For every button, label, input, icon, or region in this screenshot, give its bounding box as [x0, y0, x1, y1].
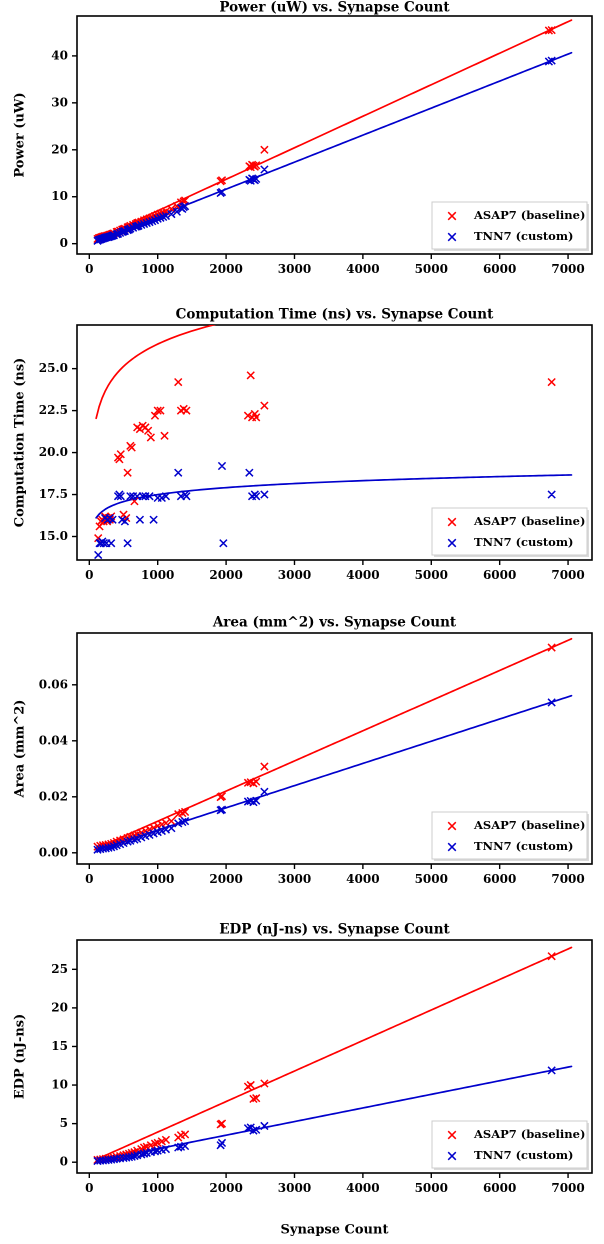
x-tick-label: 1000: [141, 872, 174, 886]
y-tick-label: 15.0: [39, 529, 68, 543]
y-axis-label: EDP (nJ-ns): [13, 1014, 28, 1100]
chart-panel-area: Area (mm^2) vs. Synapse Count0.000.020.0…: [13, 615, 593, 886]
legend: ASAP7 (baseline)TNN7 (custom): [432, 508, 589, 557]
x-tick-label: 4000: [346, 568, 379, 582]
x-tick-label: 6000: [483, 568, 516, 582]
y-tick-label: 10: [51, 189, 68, 203]
y-axis-label: Computation Time (ns): [13, 358, 28, 528]
y-tick-label: 0.02: [39, 789, 68, 803]
x-tick-label: 3000: [278, 568, 311, 582]
y-tick-label: 15: [51, 1039, 68, 1053]
x-tick-label: 0: [85, 872, 93, 886]
legend: ASAP7 (baseline)TNN7 (custom): [432, 812, 589, 861]
x-tick-label: 2000: [209, 262, 242, 276]
x-tick-label: 5000: [415, 1181, 448, 1195]
y-tick-label: 0.04: [39, 733, 68, 747]
y-tick-label: 0: [60, 1155, 68, 1169]
y-axis-label: Power (uW): [13, 92, 28, 177]
chart-title: Computation Time (ns) vs. Synapse Count: [176, 307, 495, 323]
y-tick-label: 20.0: [39, 445, 68, 459]
y-tick-label: 0: [60, 236, 68, 250]
x-tick-label: 7000: [551, 1181, 584, 1195]
y-tick-label: 0.00: [39, 845, 68, 859]
y-tick-label: 5: [60, 1116, 68, 1130]
x-tick-label: 6000: [483, 262, 516, 276]
x-tick-label: 7000: [551, 568, 584, 582]
legend-label: TNN7 (custom): [474, 839, 573, 853]
x-tick-label: 1000: [141, 1181, 174, 1195]
y-tick-label: 10: [51, 1078, 68, 1092]
x-tick-label: 4000: [346, 1181, 379, 1195]
y-tick-label: 0.06: [39, 677, 68, 691]
legend-label: ASAP7 (baseline): [473, 818, 585, 832]
x-tick-label: 5000: [415, 872, 448, 886]
x-tick-label: 6000: [483, 1181, 516, 1195]
legend-label: ASAP7 (baseline): [473, 1127, 585, 1141]
x-tick-label: 3000: [278, 872, 311, 886]
x-tick-label: 4000: [346, 872, 379, 886]
x-tick-label: 0: [85, 1181, 93, 1195]
chart-title: EDP (nJ-ns) vs. Synapse Count: [219, 922, 450, 938]
y-tick-label: 17.5: [39, 487, 68, 501]
trend-line: [96, 281, 571, 418]
chart-panel-power: Power (uW) vs. Synapse Count010203040010…: [13, 0, 593, 276]
x-tick-label: 3000: [278, 1181, 311, 1195]
legend-label: ASAP7 (baseline): [473, 514, 585, 528]
x-tick-label: 2000: [209, 872, 242, 886]
x-tick-label: 2000: [209, 1181, 242, 1195]
legend: ASAP7 (baseline)TNN7 (custom): [432, 202, 589, 251]
y-tick-label: 20: [51, 1000, 68, 1014]
legend-label: ASAP7 (baseline): [473, 208, 585, 222]
y-tick-label: 25: [51, 962, 68, 976]
x-tick-label: 7000: [551, 872, 584, 886]
chart-panel-edp: EDP (nJ-ns) vs. Synapse Count05101520250…: [13, 922, 593, 1238]
chart-title: Power (uW) vs. Synapse Count: [219, 0, 450, 16]
x-tick-label: 3000: [278, 262, 311, 276]
legend-label: TNN7 (custom): [474, 1148, 573, 1162]
chart-panel-computation_time: Computation Time (ns) vs. Synapse Count1…: [13, 281, 593, 582]
y-tick-label: 30: [51, 95, 68, 109]
x-tick-label: 4000: [346, 262, 379, 276]
y-tick-label: 22.5: [39, 403, 68, 417]
x-tick-label: 0: [85, 262, 93, 276]
chart-title: Area (mm^2) vs. Synapse Count: [212, 615, 457, 631]
x-tick-label: 0: [85, 568, 93, 582]
multi-panel-figure: Power (uW) vs. Synapse Count010203040010…: [0, 0, 604, 1244]
legend: ASAP7 (baseline)TNN7 (custom): [432, 1121, 589, 1170]
x-tick-label: 1000: [141, 568, 174, 582]
y-tick-label: 40: [51, 48, 68, 62]
x-tick-label: 5000: [415, 568, 448, 582]
x-axis-label: Synapse Count: [281, 1223, 389, 1238]
legend-label: TNN7 (custom): [474, 535, 573, 549]
x-tick-label: 5000: [415, 262, 448, 276]
legend-label: TNN7 (custom): [474, 229, 573, 243]
x-tick-label: 2000: [209, 568, 242, 582]
figure-page: Power (uW) vs. Synapse Count010203040010…: [0, 0, 604, 1244]
x-tick-label: 6000: [483, 872, 516, 886]
y-tick-label: 20: [51, 142, 68, 156]
x-tick-label: 1000: [141, 262, 174, 276]
x-tick-label: 7000: [551, 262, 584, 276]
y-tick-label: 25.0: [39, 361, 68, 375]
y-axis-label: Area (mm^2): [13, 700, 28, 799]
